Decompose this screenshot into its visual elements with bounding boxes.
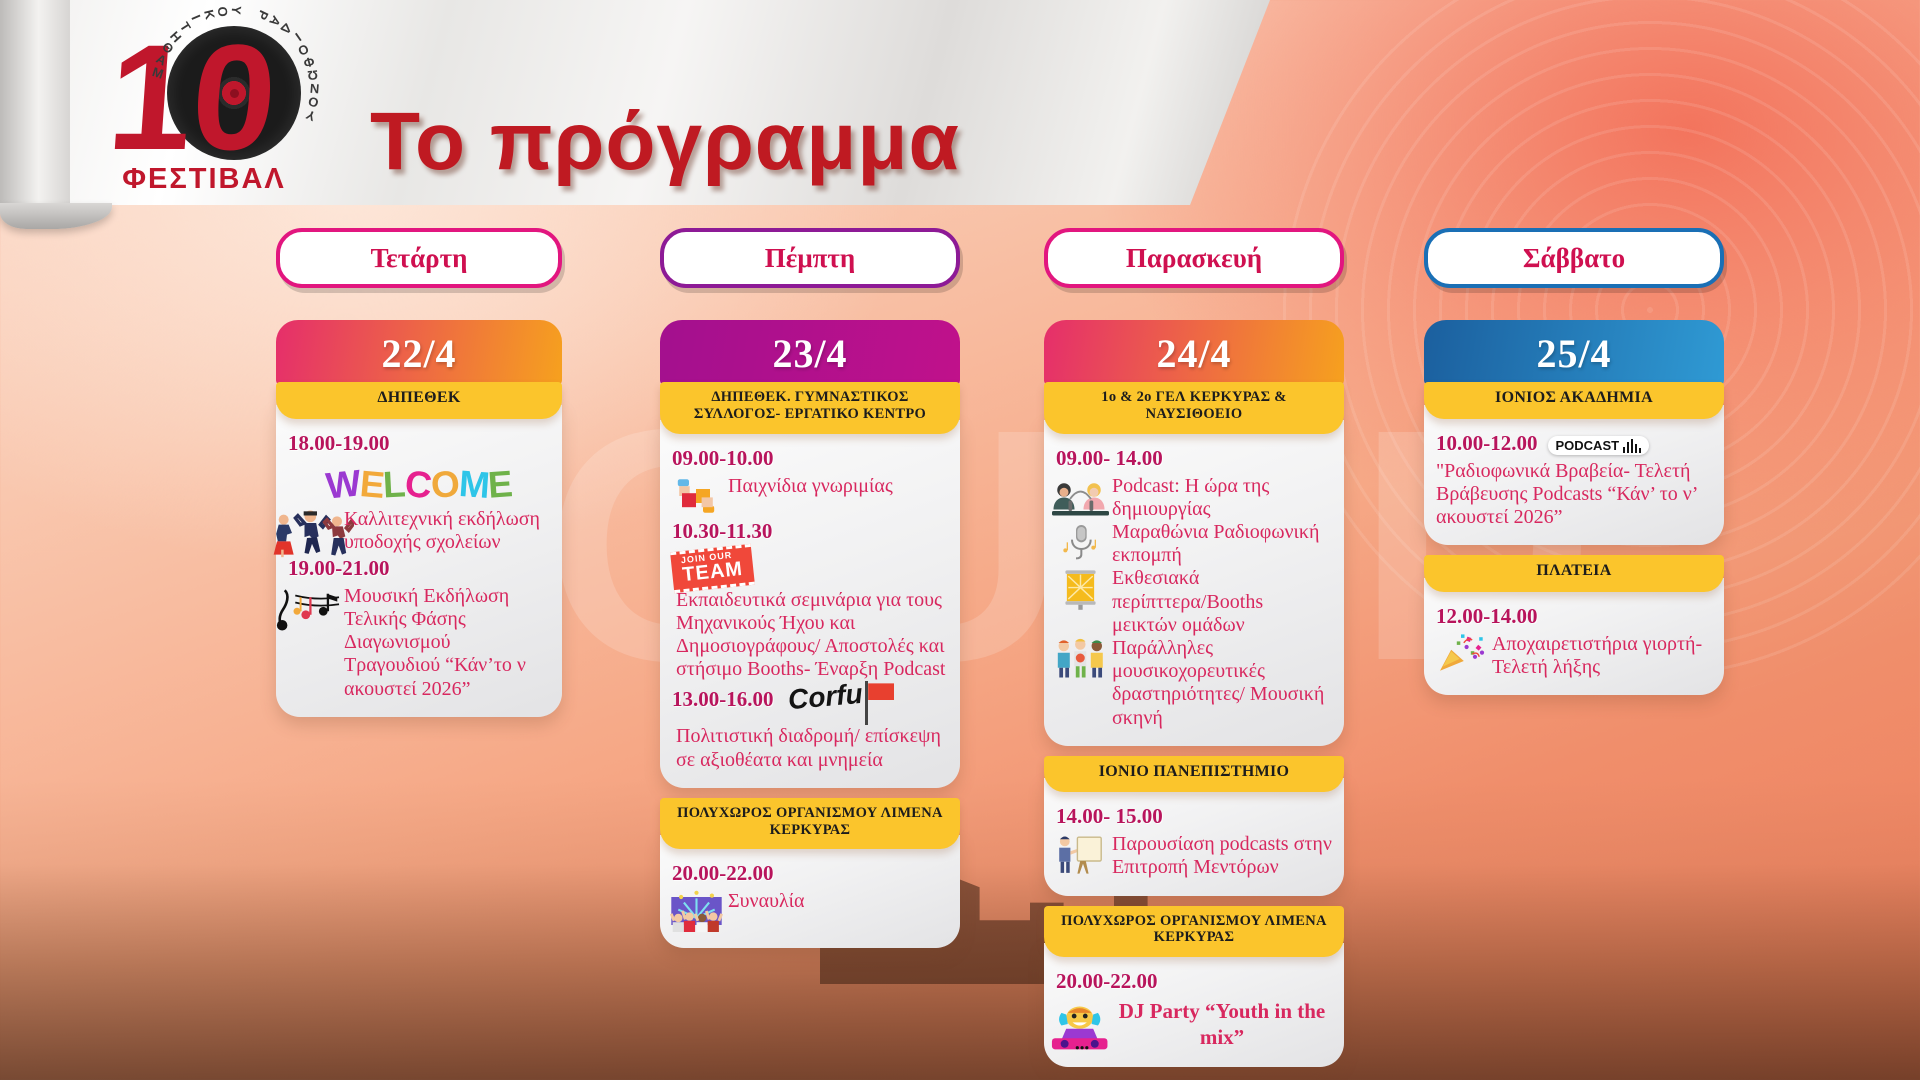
day-card-1: 22/4ΔΗΠΕΘΕΚ18.00-19.00WELCOME Καλλιτεχνι…	[276, 320, 562, 717]
entry-row: Συναυλία	[672, 890, 948, 932]
program-column-4: Σάββατο25/4ΙΟΝΙΟΣ ΑΚΑΔΗΜΙΑ10.00-12.00POD…	[1424, 228, 1724, 695]
entry-icon-slot	[1436, 633, 1484, 675]
entry-icon-slot	[672, 890, 720, 932]
venue-banner: ΙΟΝΙΟΣ ΑΚΑΔΗΜΙΑ	[1424, 382, 1724, 419]
day-body: 14.00- 15.00 Παρουσίαση podcasts στην Επ…	[1044, 778, 1344, 895]
children-group-icon	[1053, 637, 1108, 679]
program-entry: 10.30-11.30JOIN OURTEAMΕκπαιδευτικά σεμι…	[672, 519, 948, 682]
day-card-4: 25/4ΙΟΝΙΟΣ ΑΚΑΔΗΜΙΑ10.00-12.00PODCAST"Ρα…	[1424, 320, 1724, 695]
day-tab-label: Τετάρτη	[371, 243, 468, 274]
entry-description: Συναυλία	[728, 890, 805, 913]
dancers-icon	[270, 508, 354, 548]
entry-row: DJ Party “Youth in the mix”	[1056, 998, 1332, 1051]
day-body: 09.00- 14.00 Podcast: Η ώρα της δημιουργ…	[1044, 420, 1344, 746]
entry-time: 19.00-21.00	[288, 556, 550, 581]
entry-row: Παράλληλες μουσικοχορευτικές δραστηριότη…	[1056, 637, 1332, 730]
program-entry: 09.00- 14.00 Podcast: Η ώρα της δημιουργ…	[1056, 446, 1332, 521]
program-column-3: Παρασκευή24/41ο & 2ο ΓΕΛ ΚΕΡΚΥΡΑΣ & ΝΑΥΣ…	[1044, 228, 1344, 1067]
entry-description: Μαραθώνια Ραδιοφωνική εκπομπή	[1112, 521, 1332, 567]
entry-icon-slot	[1056, 637, 1104, 679]
program-entry: Μαραθώνια Ραδιοφωνική εκπομπή	[1056, 521, 1332, 567]
entry-description: Μουσική Εκδήλωση Τελικής Φάσης Διαγωνισμ…	[344, 585, 550, 701]
podcast-studio-icon	[1049, 475, 1112, 517]
program-column-1: Τετάρτη22/4ΔΗΠΕΘΕΚ18.00-19.00WELCOME Καλ…	[276, 228, 562, 717]
booth-banner-icon	[1064, 567, 1097, 611]
entry-time: 13.00-16.00	[672, 687, 774, 712]
day-body: 18.00-19.00WELCOME Καλλιτεχνική εκδήλωση…	[276, 405, 562, 717]
entry-time: 12.00-14.00	[1436, 604, 1712, 629]
tour-flag-icon	[862, 681, 896, 725]
entry-row: Καλλιτεχνική εκδήλωση υποδοχής σχολείων	[288, 508, 550, 554]
entry-time: 14.00- 15.00	[1056, 804, 1332, 829]
entry-icon-slot	[1056, 833, 1104, 875]
date-header: 24/4	[1044, 320, 1344, 386]
program-columns: Τετάρτη22/4ΔΗΠΕΘΕΚ18.00-19.00WELCOME Καλ…	[0, 0, 1920, 1080]
day-tab-label: Πέμπτη	[765, 243, 855, 274]
entry-time: 10.00-12.00	[1436, 431, 1538, 456]
date-label: 22/4	[381, 330, 456, 377]
day-card-3: 24/41ο & 2ο ΓΕΛ ΚΕΡΚΥΡΑΣ & ΝΑΥΣΙΘΟΕΙΟ09.…	[1044, 320, 1344, 1067]
music-notes-icon	[272, 585, 352, 627]
entry-time: 20.00-22.00	[672, 861, 948, 886]
day-tab-4[interactable]: Σάββατο	[1424, 228, 1724, 288]
day-body: 09.00-10.00 Παιχνίδια γνωριμίας10.30-11.…	[660, 420, 960, 788]
entry-description: Αποχαιρετιστήρια γιορτή- Τελετή λήξης	[1492, 633, 1712, 679]
program-entry: 10.00-12.00PODCAST"Ραδιοφωνικά Βραβεία- …	[1436, 429, 1712, 530]
entry-icon-slot	[288, 585, 336, 627]
program-entry: 19.00-21.00 Μουσική Εκδήλωση Τελικής Φάσ…	[288, 556, 550, 701]
entry-icon-slot	[1056, 521, 1104, 561]
day-tab-1[interactable]: Τετάρτη	[276, 228, 562, 288]
date-header: 22/4	[276, 320, 562, 386]
corfu-wordmark: Corfu	[786, 678, 863, 716]
dj-icon	[1044, 998, 1115, 1040]
venue-banner: ΠΟΛΥΧΩΡΟΣ ΟΡΓΑΝΙΣΜΟΥ ΛΙΜΕΝΑ ΚΕΡΚΥΡΑΣ	[660, 798, 960, 850]
entry-row: Μουσική Εκδήλωση Τελικής Φάσης Διαγωνισμ…	[288, 585, 550, 701]
join-our-team-icon: JOIN OURTEAM	[670, 544, 755, 593]
entry-description: Καλλιτεχνική εκδήλωση υποδοχής σχολείων	[344, 508, 550, 554]
entry-description: "Ραδιοφωνικά Βραβεία- Τελετή Βράβευσης P…	[1436, 460, 1712, 530]
day-body: 12.00-14.00 Αποχαιρετιστήρια γιορτή- Τελ…	[1424, 578, 1724, 695]
program-entry: 20.00-22.00 DJ Party “Youth in the mix”	[1056, 969, 1332, 1051]
date-header: 23/4	[660, 320, 960, 386]
party-popper-icon	[1433, 633, 1488, 675]
venue-banner: ΔΗΠΕΘΕΚ. ΓΥΜΝΑΣΤΙΚΟΣ ΣΥΛΛΟΓΟΣ- ΕΡΓΑΤΙΚΟ …	[660, 382, 960, 434]
entry-time: 09.00- 14.00	[1056, 446, 1332, 471]
day-card-2: 23/4ΔΗΠΕΘΕΚ. ΓΥΜΝΑΣΤΙΚΟΣ ΣΥΛΛΟΓΟΣ- ΕΡΓΑΤ…	[660, 320, 960, 948]
entry-icon-slot	[672, 475, 720, 517]
date-label: 24/4	[1156, 330, 1231, 377]
presenter-board-icon	[1055, 833, 1105, 875]
entry-description: Podcast: Η ώρα της δημιουργίας	[1112, 475, 1332, 521]
entry-icon-slot	[1056, 567, 1104, 611]
entry-description: Παρουσίαση podcasts στην Επιτροπή Μεντόρ…	[1112, 833, 1332, 879]
entry-icon-slot	[288, 508, 336, 548]
entry-row: Podcast: Η ώρα της δημιουργίας	[1056, 475, 1332, 521]
microphone-icon	[1060, 521, 1100, 561]
welcome-sign-icon: WELCOME	[288, 464, 550, 506]
corfu-tour-icon: Corfu	[788, 681, 897, 725]
concert-crowd-icon	[665, 890, 728, 932]
program-entry: 09.00-10.00 Παιχνίδια γνωριμίας	[672, 446, 948, 517]
day-body: 20.00-22.00 Συναυλία	[660, 835, 960, 948]
program-entry: Παράλληλες μουσικοχορευτικές δραστηριότη…	[1056, 637, 1332, 730]
entry-time: 10.30-11.30	[672, 519, 948, 544]
podcast-badge-icon: PODCAST	[1548, 436, 1650, 455]
entry-time: 18.00-19.00	[288, 431, 550, 456]
entry-row: Παιχνίδια γνωριμίας	[672, 475, 948, 517]
entry-row: Εκθεσιακά περίπττερα/Booths μεικτών ομάδ…	[1056, 567, 1332, 637]
venue-banner: ΙΟΝΙΟ ΠΑΝΕΠΙΣΤΗΜΙΟ	[1044, 756, 1344, 793]
entry-description: Εκπαιδευτικά σεμινάρια για τους Μηχανικο…	[676, 589, 948, 682]
entry-description: DJ Party “Youth in the mix”	[1112, 998, 1332, 1051]
day-body: 20.00-22.00 DJ Party “Youth in the mix”	[1044, 943, 1344, 1067]
venue-banner: 1ο & 2ο ΓΕΛ ΚΕΡΚΥΡΑΣ & ΝΑΥΣΙΘΟΕΙΟ	[1044, 382, 1344, 434]
entry-description: Παράλληλες μουσικοχορευτικές δραστηριότη…	[1112, 637, 1332, 730]
program-entry: 20.00-22.00 Συναυλία	[672, 861, 948, 932]
entry-icon-slot	[1056, 475, 1104, 517]
podcast-badge-label: PODCAST	[1556, 438, 1620, 453]
entry-row: Παρουσίαση podcasts στην Επιτροπή Μεντόρ…	[1056, 833, 1332, 879]
day-body: 10.00-12.00PODCAST"Ραδιοφωνικά Βραβεία- …	[1424, 405, 1724, 546]
program-entry: 12.00-14.00 Αποχαιρετιστήρια γιορτή- Τελ…	[1436, 604, 1712, 679]
program-entry: 14.00- 15.00 Παρουσίαση podcasts στην Επ…	[1056, 804, 1332, 879]
entry-description: Παιχνίδια γνωριμίας	[728, 475, 893, 498]
venue-banner: ΠΛΑΤΕΙΑ	[1424, 555, 1724, 592]
date-header: 25/4	[1424, 320, 1724, 386]
entry-row: Μαραθώνια Ραδιοφωνική εκπομπή	[1056, 521, 1332, 567]
venue-banner: ΠΟΛΥΧΩΡΟΣ ΟΡΓΑΝΙΣΜΟΥ ΛΙΜΕΝΑ ΚΕΡΚΥΡΑΣ	[1044, 906, 1344, 958]
program-entry: 13.00-16.00CorfuΠολιτιστική διαδρομή/ επ…	[672, 681, 948, 771]
program-entry: 18.00-19.00WELCOME Καλλιτεχνική εκδήλωση…	[288, 431, 550, 554]
venue-banner: ΔΗΠΕΘΕΚ	[276, 382, 562, 419]
day-tab-label: Παρασκευή	[1126, 243, 1262, 274]
entry-time: 20.00-22.00	[1056, 969, 1332, 994]
entry-description: Πολιτιστική διαδρομή/ επίσκεψη σε αξιοθέ…	[676, 725, 948, 771]
program-entry: Εκθεσιακά περίπττερα/Booths μεικτών ομάδ…	[1056, 567, 1332, 637]
day-tab-3[interactable]: Παρασκευή	[1044, 228, 1344, 288]
entry-row: Αποχαιρετιστήρια γιορτή- Τελετή λήξης	[1436, 633, 1712, 679]
date-label: 25/4	[1536, 330, 1611, 377]
entry-description: Εκθεσιακά περίπττερα/Booths μεικτών ομάδ…	[1112, 567, 1332, 637]
podcast-mic-icon	[1623, 439, 1641, 453]
program-column-2: Πέμπτη23/4ΔΗΠΕΘΕΚ. ΓΥΜΝΑΣΤΙΚΟΣ ΣΥΛΛΟΓΟΣ-…	[660, 228, 960, 948]
day-tab-2[interactable]: Πέμπτη	[660, 228, 960, 288]
entry-icon-slot	[1056, 998, 1104, 1040]
entry-time: 09.00-10.00	[672, 446, 948, 471]
day-tab-label: Σάββατο	[1523, 243, 1625, 274]
puzzle-hands-icon	[675, 475, 717, 517]
date-label: 23/4	[772, 330, 847, 377]
